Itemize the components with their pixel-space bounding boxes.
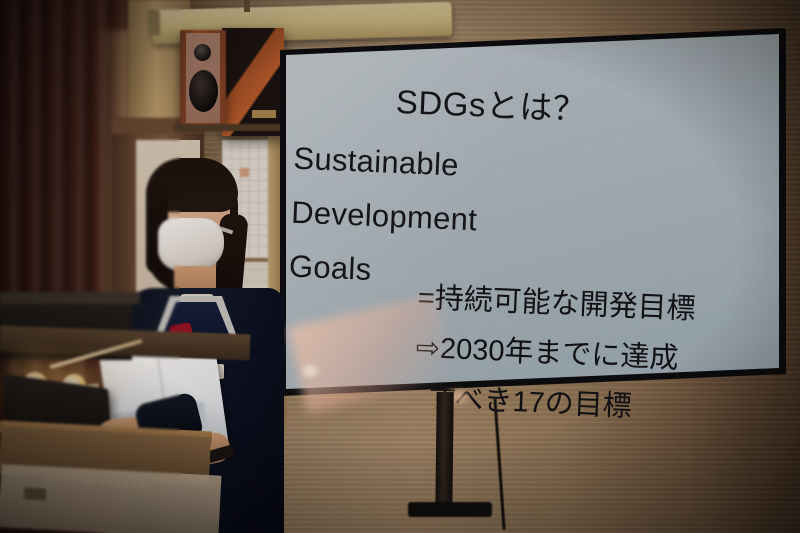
ceiling-bracket xyxy=(244,0,250,12)
face-mask xyxy=(158,218,224,270)
display-stand-foot xyxy=(408,502,492,517)
slide-title: SDGsとは？ xyxy=(395,75,587,131)
wall-display[interactable]: SDGsとは？ Sustainable Development Goals =持… xyxy=(274,28,786,396)
presentation-photo-scene: SDGsとは？ Sustainable Development Goals =持… xyxy=(0,0,800,533)
slide-english-line-3: Goals xyxy=(288,249,372,288)
desk-slot xyxy=(24,487,47,500)
amplifier-panel xyxy=(252,110,276,118)
stage-top-edge xyxy=(0,292,140,304)
speaker-woofer-icon xyxy=(189,70,218,112)
speaker-tweeter-icon xyxy=(194,44,211,61)
slide-japanese-line-2: ⇨2030年までに達成 xyxy=(415,324,679,377)
display-stand-post xyxy=(435,392,453,514)
slide-japanese-line-1: =持続可能な開発目標 xyxy=(417,274,696,328)
slide-english-line-1: Sustainable xyxy=(293,141,460,184)
speaker-shelf xyxy=(174,124,290,131)
slide-english-line-2: Development xyxy=(291,195,478,239)
screen-glare-hotspot xyxy=(300,364,320,378)
screen-roller-cap xyxy=(148,10,161,36)
